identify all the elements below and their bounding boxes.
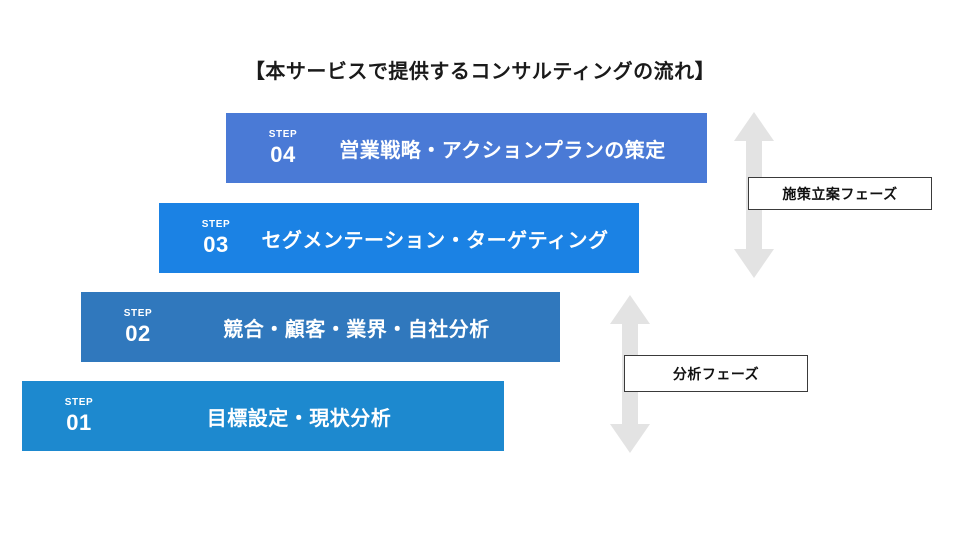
- step-word-label-01: STEP: [48, 398, 110, 408]
- step-word-label-03: STEP: [185, 220, 247, 230]
- step-label-02: 競合・顧客・業界・自社分析: [179, 313, 560, 342]
- page-title: 【本サービスで提供するコンサルティングの流れ】: [0, 55, 960, 84]
- step-word-label-02: STEP: [107, 309, 169, 319]
- slide-canvas: 【本サービスで提供するコンサルティングの流れ】 STEP 04 営業戦略・アクシ…: [0, 0, 960, 540]
- step-number-block-02: STEP 02: [81, 309, 179, 345]
- step-label-04: 営業戦略・アクションプランの策定: [324, 134, 707, 163]
- step-number-01: 01: [48, 412, 110, 434]
- step-label-01: 目標設定・現状分析: [120, 402, 504, 431]
- step-bar-04[interactable]: STEP 04 営業戦略・アクションプランの策定: [226, 113, 707, 183]
- step-number-block-04: STEP 04: [226, 130, 324, 166]
- step-bar-01[interactable]: STEP 01 目標設定・現状分析: [22, 381, 504, 451]
- step-number-03: 03: [185, 234, 247, 256]
- step-number-02: 02: [107, 323, 169, 345]
- step-label-03: セグメンテーション・ターゲティング: [257, 224, 639, 253]
- step-number-block-03: STEP 03: [159, 220, 257, 256]
- step-number-block-01: STEP 01: [22, 398, 120, 434]
- step-number-04: 04: [252, 144, 314, 166]
- step-bar-02[interactable]: STEP 02 競合・顧客・業界・自社分析: [81, 292, 560, 362]
- phase-label-box-analysis[interactable]: 分析フェーズ: [624, 355, 808, 392]
- step-word-label-04: STEP: [252, 130, 314, 140]
- phase-label-box-measures-planning[interactable]: 施策立案フェーズ: [748, 177, 932, 210]
- step-bar-03[interactable]: STEP 03 セグメンテーション・ターゲティング: [159, 203, 639, 273]
